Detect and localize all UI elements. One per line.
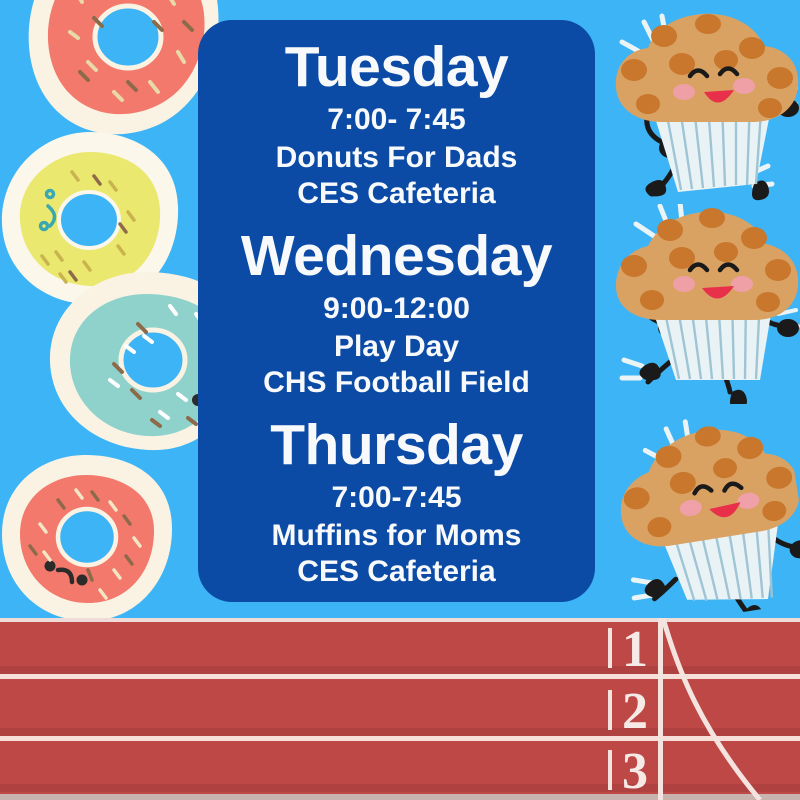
event-name-wednesday: Play Day [198,329,595,366]
muffin-middle [608,204,800,404]
schedule-block-wednesday: Wednesday 9:00-12:00 Play Day CHS Footba… [198,227,595,402]
schedule-card: Tuesday 7:00- 7:45 Donuts For Dads CES C… [198,20,595,602]
schedule-block-thursday: Thursday 7:00-7:45 Muffins for Moms CES … [198,416,595,591]
poster-canvas: Tuesday 7:00- 7:45 Donuts For Dads CES C… [0,0,800,800]
event-location-tuesday: CES Cafeteria [198,176,595,213]
muffin-top [604,8,800,208]
event-name-thursday: Muffins for Moms [198,518,595,555]
running-track: 1 2 3 [0,618,800,800]
muffin-bottom [593,398,800,631]
event-name-tuesday: Donuts For Dads [198,140,595,177]
donut-coral-bottom [0,452,175,624]
event-location-wednesday: CHS Football Field [198,365,595,402]
track-curve-line [0,618,800,800]
day-heading-tuesday: Tuesday [198,38,595,96]
event-time-tuesday: 7:00- 7:45 [198,100,595,140]
schedule-block-tuesday: Tuesday 7:00- 7:45 Donuts For Dads CES C… [198,34,595,213]
day-heading-wednesday: Wednesday [198,227,595,285]
event-time-thursday: 7:00-7:45 [198,478,595,518]
day-heading-thursday: Thursday [198,416,595,474]
event-location-thursday: CES Cafeteria [198,554,595,591]
event-time-wednesday: 9:00-12:00 [198,289,595,329]
